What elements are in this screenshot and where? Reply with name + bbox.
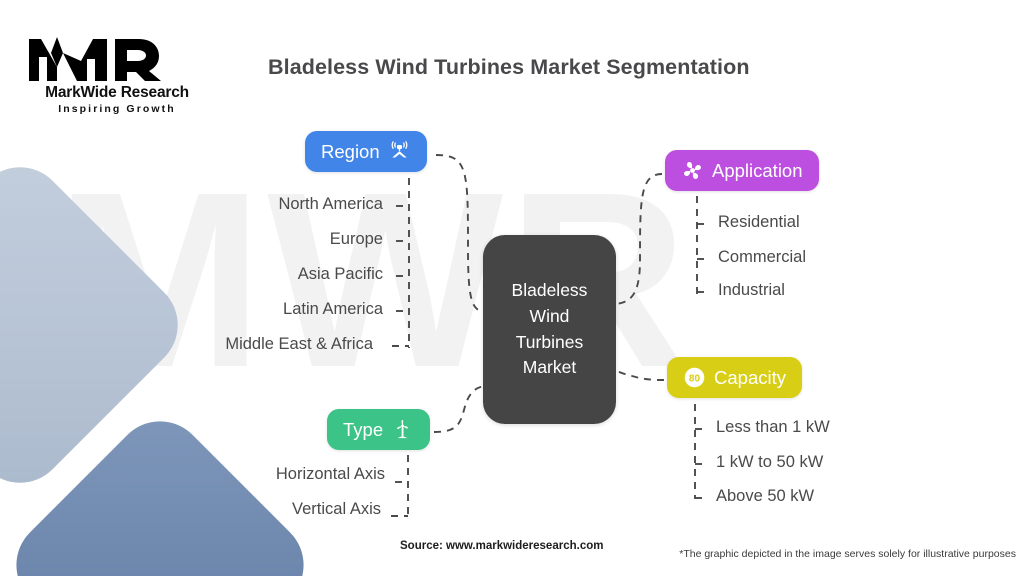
leaf-item[interactable]: Europe [330, 230, 383, 249]
satellite-broadcast-icon [388, 140, 411, 163]
leaf-item[interactable]: Latin America [283, 300, 383, 319]
center-node[interactable]: Bladeless Wind Turbines Market [483, 235, 616, 424]
company-logo: MarkWide Research Inspiring Growth [27, 33, 207, 115]
branch-badge-region[interactable]: Region [305, 131, 427, 172]
logo-mark-mwr [27, 33, 187, 83]
logo-tagline: Inspiring Growth [27, 103, 207, 115]
branch-label-capacity: Capacity [714, 367, 786, 389]
branch-label-region: Region [321, 141, 380, 163]
branch-badge-type[interactable]: Type [327, 409, 430, 450]
branch-badge-application[interactable]: Application [665, 150, 819, 191]
leaf-item[interactable]: Less than 1 kW [716, 418, 830, 437]
fan-propeller-icon [681, 159, 704, 182]
source-label: Source: www.markwideresearch.com [400, 540, 603, 552]
disclaimer-label: *The graphic depicted in the image serve… [679, 548, 1016, 560]
page-title: Bladeless Wind Turbines Market Segmentat… [268, 55, 750, 80]
wind-turbine-icon [391, 418, 414, 441]
leaf-item[interactable]: Horizontal Axis [276, 465, 385, 484]
logo-company-name: MarkWide Research [27, 84, 207, 102]
branch-label-type: Type [343, 419, 383, 441]
gauge-value: 80 [689, 374, 701, 385]
center-node-label: Bladeless Wind Turbines Market [512, 278, 588, 382]
leaf-item[interactable]: Asia Pacific [298, 265, 383, 284]
leaf-item[interactable]: 1 kW to 50 kW [716, 453, 823, 472]
leaf-item[interactable]: Vertical Axis [292, 500, 381, 519]
leaf-item[interactable]: Above 50 kW [716, 487, 814, 506]
leaf-item[interactable]: Middle East & Africa [225, 335, 373, 354]
branch-label-application: Application [712, 160, 803, 182]
leaf-item[interactable]: Industrial [718, 281, 785, 300]
gauge-80-icon: 80 [683, 366, 706, 389]
leaf-item[interactable]: Residential [718, 213, 800, 232]
leaf-item[interactable]: Commercial [718, 248, 806, 267]
branch-badge-capacity[interactable]: 80 Capacity [667, 357, 802, 398]
leaf-item[interactable]: North America [278, 195, 383, 214]
